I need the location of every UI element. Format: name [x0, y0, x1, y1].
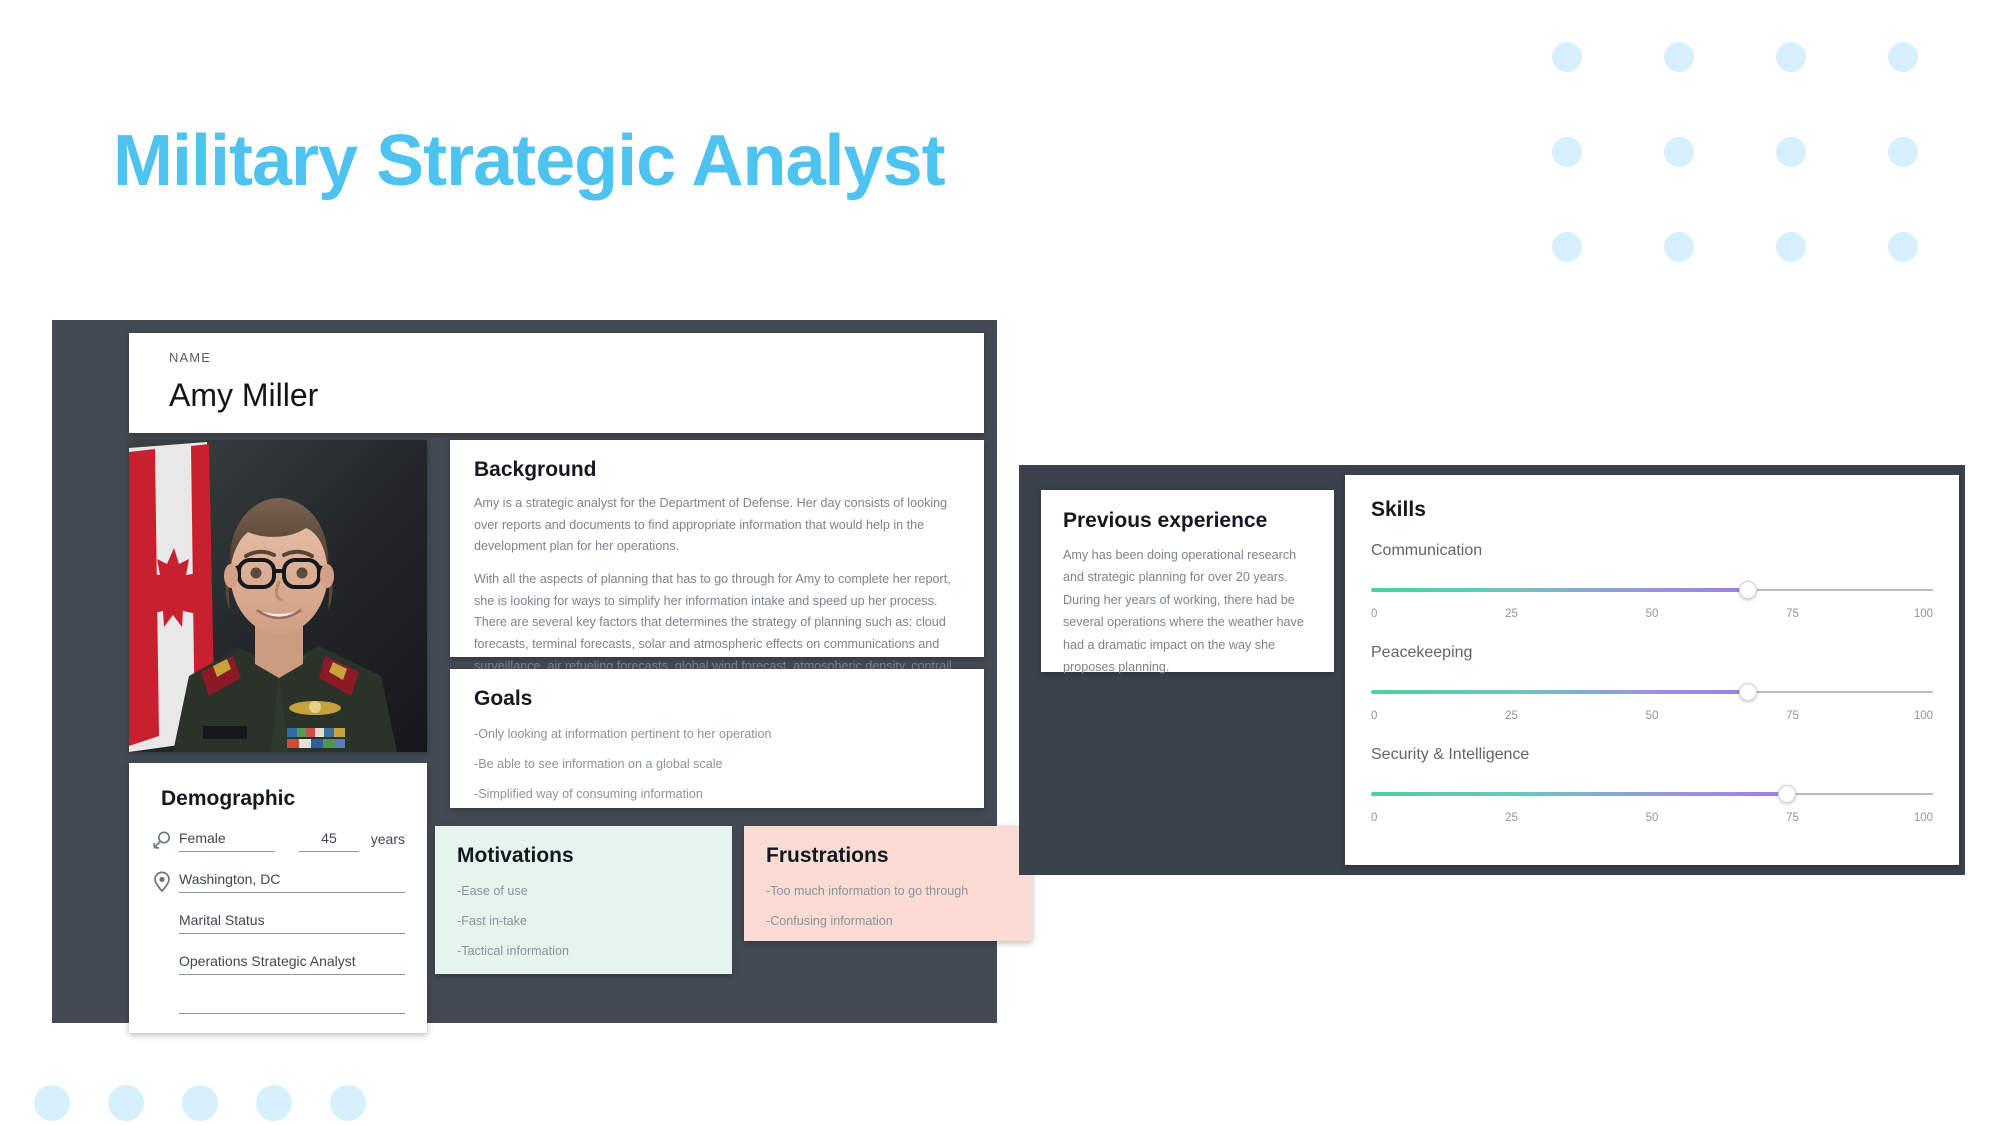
previous-experience-text: Amy has been doing operational research … [1063, 544, 1312, 678]
motivations-card: Motivations -Ease of use -Fast in-take -… [435, 826, 732, 974]
demographic-row-occupation: Operations Strategic Analyst [179, 953, 405, 975]
motivations-heading: Motivations [457, 844, 710, 868]
list-item: -Simplified way of consuming information [474, 787, 960, 801]
decorative-dot [256, 1085, 292, 1121]
slider-tick: 50 [1646, 608, 1659, 620]
background-card: Background Amy is a strategic analyst fo… [450, 440, 984, 657]
skills-right-panel: Previous experience Amy has been doing o… [1019, 465, 1965, 875]
slider-tick: 25 [1505, 710, 1518, 722]
skill-slider[interactable] [1371, 576, 1933, 606]
decorative-dot [1664, 232, 1694, 262]
list-item: -Confusing information [766, 914, 1010, 928]
demographic-heading: Demographic [161, 787, 405, 811]
slider-tick: 100 [1914, 812, 1933, 824]
skill-block: Peacekeeping0255075100 [1371, 644, 1933, 726]
name-label: NAME [169, 350, 984, 365]
slider-thumb[interactable] [1778, 785, 1796, 803]
goals-card: Goals -Only looking at information perti… [450, 669, 984, 808]
decorative-dot [1552, 42, 1582, 72]
persona-portrait [129, 440, 427, 752]
frustrations-heading: Frustrations [766, 844, 1010, 868]
slider-tick: 25 [1505, 812, 1518, 824]
slider-tick: 0 [1371, 608, 1377, 620]
slider-tick-labels: 0255075100 [1371, 812, 1933, 828]
slider-fill [1371, 588, 1748, 592]
slider-tick-labels: 0255075100 [1371, 608, 1933, 624]
goals-heading: Goals [474, 687, 960, 711]
blank-field[interactable] [179, 994, 405, 1014]
decorative-dot [1888, 232, 1918, 262]
demographic-row-location: Washington, DC [151, 871, 405, 893]
list-item: -Too much information to go through [766, 884, 1010, 898]
list-item: -Be able to see information on a global … [474, 757, 960, 771]
decorative-dot [1776, 42, 1806, 72]
slider-fill [1371, 792, 1787, 796]
age-value[interactable]: 45 [299, 830, 359, 852]
persona-left-panel: NAME Amy Miller [52, 320, 997, 1023]
demographic-row-marital: Marital Status [179, 912, 405, 934]
demographic-row-blank [179, 994, 405, 1014]
skill-slider[interactable] [1371, 780, 1933, 810]
decorative-dot [108, 1085, 144, 1121]
age-unit-label: years [371, 831, 405, 852]
slider-tick: 75 [1786, 812, 1799, 824]
frustrations-card: Frustrations -Too much information to go… [744, 826, 1032, 941]
decorative-dot [34, 1085, 70, 1121]
slider-thumb[interactable] [1739, 683, 1757, 701]
decorative-dot [1888, 137, 1918, 167]
decorative-dot [1888, 42, 1918, 72]
skill-block: Security & Intelligence0255075100 [1371, 746, 1933, 828]
skill-block: Communication0255075100 [1371, 542, 1933, 624]
portrait-image [129, 440, 427, 752]
background-heading: Background [474, 458, 960, 482]
decorative-dot [1664, 42, 1694, 72]
skill-label: Security & Intelligence [1371, 746, 1933, 764]
slider-tick: 0 [1371, 710, 1377, 722]
list-item: -Ease of use [457, 884, 710, 898]
decorative-dot [1552, 137, 1582, 167]
slider-tick: 50 [1646, 710, 1659, 722]
decorative-dot [1776, 137, 1806, 167]
location-value[interactable]: Washington, DC [179, 871, 405, 893]
slider-tick: 0 [1371, 812, 1377, 824]
skill-slider[interactable] [1371, 678, 1933, 708]
slider-tick: 25 [1505, 608, 1518, 620]
previous-experience-heading: Previous experience [1063, 509, 1312, 533]
skills-heading: Skills [1371, 498, 1933, 522]
decorative-dot [182, 1085, 218, 1121]
decorative-dot [1776, 232, 1806, 262]
female-gender-icon [151, 830, 175, 852]
slider-fill [1371, 690, 1748, 694]
decorative-dot [1552, 232, 1582, 262]
demographic-row-gender: Female 45 years [151, 830, 405, 852]
decorative-dot-grid-top-right [1552, 42, 2000, 327]
decorative-dot [1664, 137, 1694, 167]
decorative-dot [330, 1085, 366, 1121]
slider-tick: 100 [1914, 710, 1933, 722]
gender-value[interactable]: Female [179, 830, 275, 852]
skills-card: Skills Communication0255075100Peacekeepi… [1345, 475, 1959, 865]
skills-list: Communication0255075100Peacekeeping02550… [1371, 542, 1933, 828]
list-item: -Tactical information [457, 944, 710, 958]
slider-tick: 50 [1646, 812, 1659, 824]
marital-status-value[interactable]: Marital Status [179, 912, 405, 934]
occupation-value[interactable]: Operations Strategic Analyst [179, 953, 405, 975]
slider-tick: 75 [1786, 710, 1799, 722]
slider-tick: 100 [1914, 608, 1933, 620]
list-item: -Fast in-take [457, 914, 710, 928]
page-title: Military Strategic Analyst [113, 120, 945, 202]
slider-thumb[interactable] [1739, 581, 1757, 599]
slider-tick-labels: 0255075100 [1371, 710, 1933, 726]
background-paragraph: Amy is a strategic analyst for the Depar… [474, 493, 960, 558]
name-card: NAME Amy Miller [129, 333, 984, 433]
map-pin-icon [151, 871, 175, 893]
list-item: -Only looking at information pertinent t… [474, 727, 960, 741]
slider-tick: 75 [1786, 608, 1799, 620]
skill-label: Communication [1371, 542, 1933, 560]
previous-experience-card: Previous experience Amy has been doing o… [1041, 490, 1334, 672]
decorative-dot-grid-bottom-left [34, 1085, 404, 1113]
demographic-card: Demographic Female 45 years Washington, [129, 763, 427, 1033]
persona-name: Amy Miller [169, 377, 984, 414]
skill-label: Peacekeeping [1371, 644, 1933, 662]
